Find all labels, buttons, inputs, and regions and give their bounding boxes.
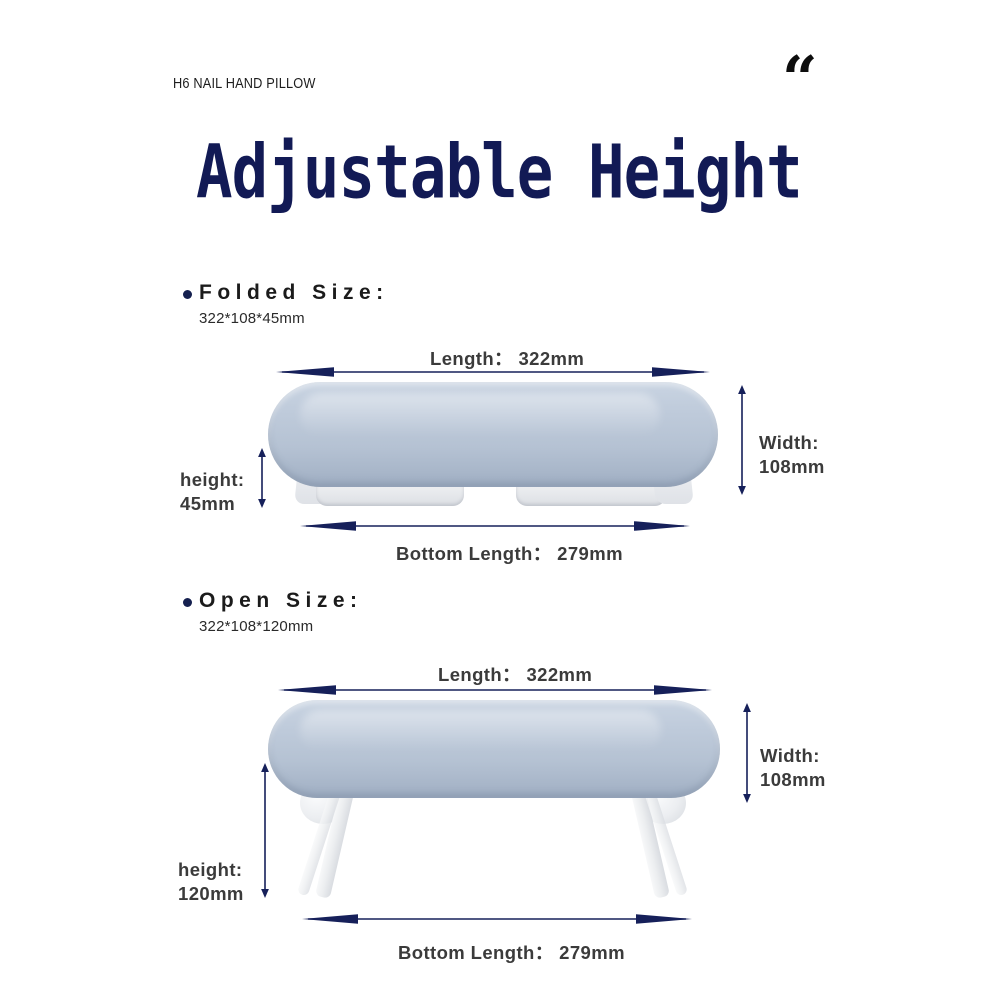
cushion-top-folded <box>268 382 718 487</box>
folded-bottom-length-arrow <box>300 519 690 533</box>
open-height-arrow <box>258 763 272 898</box>
folded-height-arrow <box>255 448 269 508</box>
folded-height-text: height: <box>180 469 244 490</box>
open-width-value: 108mm <box>760 769 826 790</box>
folded-bottom-length-label: Bottom Length： 279mm <box>396 540 623 566</box>
folded-width-text: Width: <box>759 432 819 453</box>
section-title-open: Open Size: <box>199 589 363 613</box>
open-height-label: height: 120mm <box>178 858 258 905</box>
open-bottom-length-label: Bottom Length： 279mm <box>398 939 625 965</box>
product-kicker: H6 NAIL HAND PILLOW <box>173 76 316 92</box>
bullet-icon <box>183 290 192 299</box>
cushion-highlight <box>300 710 662 751</box>
section-subtitle-open: 322*108*120mm <box>199 618 363 635</box>
cushion-highlight <box>300 393 660 437</box>
infographic-page: H6 NAIL HAND PILLOW “ Adjustable Height … <box>0 0 996 1000</box>
folded-width-label: Width: 108mm <box>759 431 849 478</box>
open-bottom-length-arrow <box>302 912 692 926</box>
open-width-arrow <box>740 703 754 803</box>
section-subtitle-folded: 322*108*45mm <box>199 310 389 327</box>
product-image-folded <box>268 382 718 517</box>
open-width-text: Width: <box>760 745 820 766</box>
folded-length-arrow <box>276 365 710 379</box>
bullet-icon <box>183 598 192 607</box>
product-image-open <box>268 700 720 900</box>
open-height-text: height: <box>178 859 242 880</box>
open-length-arrow <box>278 683 712 697</box>
page-title: Adjustable Height <box>196 136 785 210</box>
cushion-top-open <box>268 700 720 798</box>
folded-height-value: 45mm <box>180 493 235 514</box>
open-height-value: 120mm <box>178 883 244 904</box>
folded-width-value: 108mm <box>759 456 825 477</box>
folded-width-arrow <box>735 385 749 495</box>
open-width-label: Width: 108mm <box>760 744 850 791</box>
section-title-folded: Folded Size: <box>199 281 389 305</box>
folded-height-label: height: 45mm <box>180 468 250 515</box>
section-heading-folded: Folded Size: 322*108*45mm <box>183 281 389 327</box>
quote-mark-icon: “ <box>782 48 821 110</box>
section-heading-open: Open Size: 322*108*120mm <box>183 589 363 635</box>
